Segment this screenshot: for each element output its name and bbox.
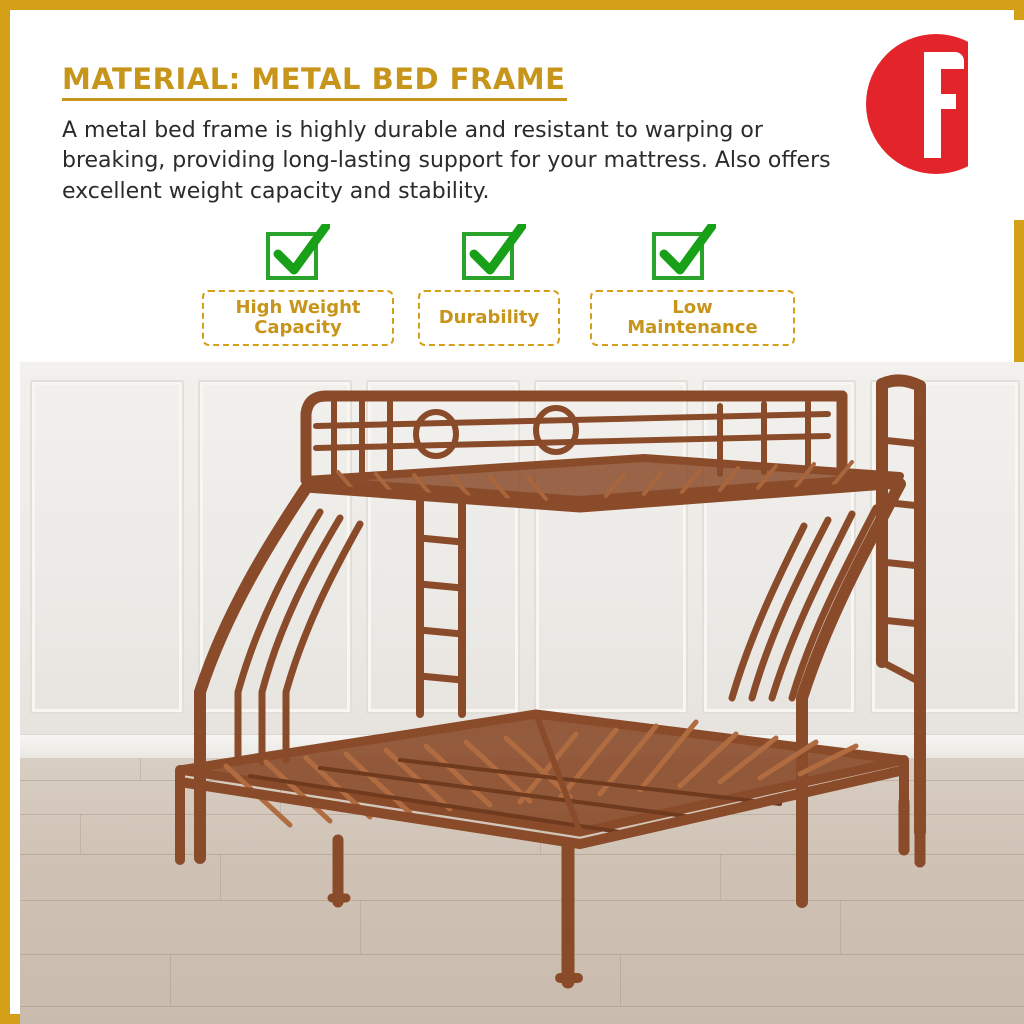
feature-badge-durability: Durability [418, 290, 560, 346]
green-check-icon [652, 232, 708, 282]
green-check-icon [266, 232, 322, 282]
feature-badges: High Weight Capacity Durability Low Main… [190, 232, 830, 367]
logo-notch [968, 34, 1008, 174]
feature-label: Durability [439, 308, 540, 328]
info-panel: MATERIAL: METAL BED FRAME A metal bed fr… [20, 20, 1024, 220]
logo-f-icon [900, 52, 962, 158]
description-text: A metal bed frame is highly durable and … [62, 116, 862, 207]
check-mark-icon [656, 224, 716, 280]
green-check-icon [462, 232, 518, 282]
product-photo [20, 362, 1024, 1024]
page-title: MATERIAL: METAL BED FRAME [62, 62, 565, 96]
check-mark-icon [466, 224, 526, 280]
feature-badge-low-maintenance: Low Maintenance [590, 290, 795, 346]
brand-logo [866, 34, 1006, 174]
feature-badge-high-weight-capacity: High Weight Capacity [202, 290, 394, 346]
feature-label: High Weight Capacity [235, 298, 360, 338]
check-mark-icon [270, 224, 330, 280]
metal-bunk-bed [20, 362, 1024, 1024]
title-underline [62, 98, 567, 101]
poster-root: MATERIAL: METAL BED FRAME A metal bed fr… [0, 0, 1024, 1024]
feature-label: Low Maintenance [627, 298, 758, 338]
bed-frame-illustration [20, 362, 1024, 1024]
